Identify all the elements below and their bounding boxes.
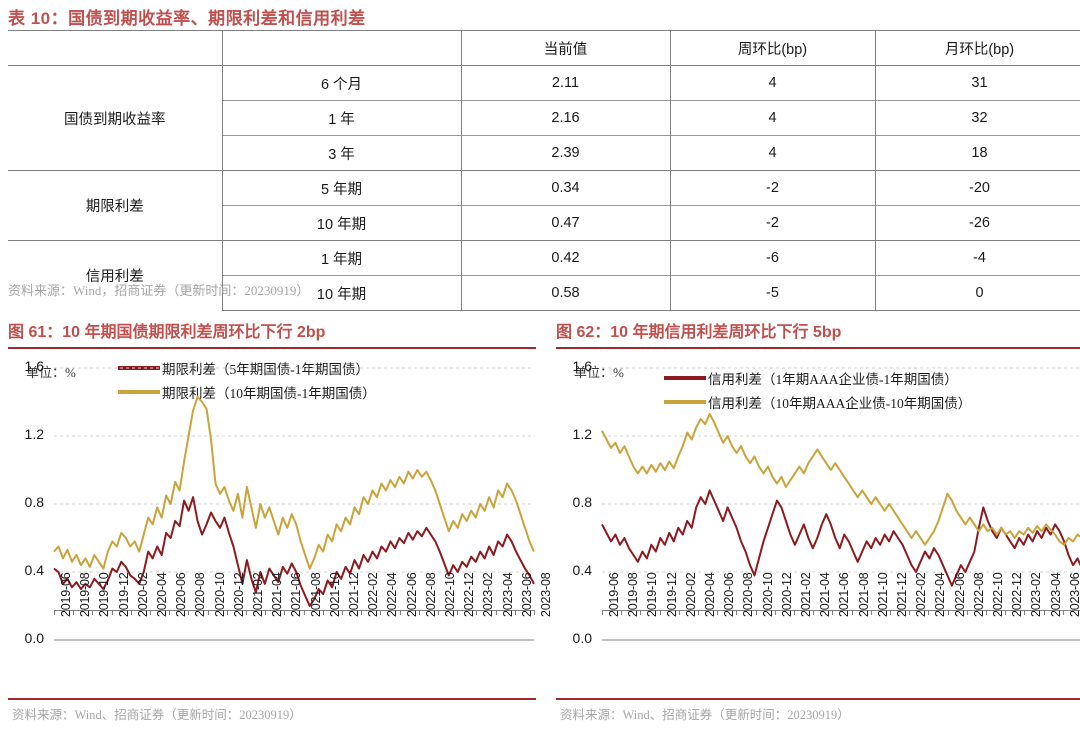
x-axis-tick [361, 610, 362, 615]
y-tick-label: 1.6 [558, 358, 592, 374]
x-tick-label: 2019-10 [645, 573, 659, 617]
x-tick-label: 2023-02 [1029, 573, 1043, 617]
x-axis-tick [1044, 610, 1045, 615]
y-tick-label: 0.4 [10, 562, 44, 578]
wow-change-cell: 4 [670, 66, 875, 101]
x-tick-label: 2019-06 [59, 573, 73, 617]
x-tick-label: 2019-12 [665, 573, 679, 617]
x-axis-tick [112, 610, 113, 615]
x-axis-tick [400, 610, 401, 615]
x-tick-label: 2019-06 [607, 573, 621, 617]
mom-change-cell: 31 [875, 66, 1080, 101]
x-tick-label: 2019-10 [97, 573, 111, 617]
wow-change-cell: -2 [670, 171, 875, 206]
table-container: 当前值周环比(bp)月环比(bp)国债到期收益率6 个月2.114311 年2.… [8, 30, 1080, 311]
x-axis-tick [832, 610, 833, 615]
x-axis-tick [948, 610, 949, 615]
x-tick-label: 2021-10 [328, 573, 342, 617]
rates-table: 当前值周环比(bp)月环比(bp)国债到期收益率6 个月2.114311 年2.… [8, 30, 1080, 311]
group-label: 信用利差 [8, 241, 222, 311]
x-tick-label: 2021-06 [837, 573, 851, 617]
x-axis-tick [756, 610, 757, 615]
x-axis-tick [890, 610, 891, 615]
x-tick-label: 2022-12 [1010, 573, 1024, 617]
x-axis-tick [813, 610, 814, 615]
x-axis-tick [871, 610, 872, 615]
current-value-cell: 0.34 [461, 171, 670, 206]
x-axis-tick [775, 610, 776, 615]
table-row: 信用利差1 年期0.42-6-4 [8, 241, 1080, 276]
x-tick-label: 2022-12 [462, 573, 476, 617]
x-tick-label: 2023-04 [1049, 573, 1063, 617]
x-tick-label: 2022-02 [366, 573, 380, 617]
x-axis-tick [1024, 610, 1025, 615]
current-value-cell: 2.11 [461, 66, 670, 101]
term-cell: 1 年期 [222, 241, 461, 276]
y-tick-label: 0.8 [558, 494, 592, 510]
current-value-cell: 0.58 [461, 276, 670, 311]
figure-62-panel: 图 62：10 年期信用利差周环比下行 5bp 单位：% 信用利差（1年期AAA… [556, 322, 1080, 726]
x-tick-label: 2023-06 [520, 573, 534, 617]
x-axis-tick [660, 610, 661, 615]
x-axis-tick [515, 610, 516, 615]
term-cell: 5 年期 [222, 171, 461, 206]
figure-61-title: 图 61：10 年期国债期限利差周环比下行 2bp [8, 322, 536, 344]
mom-change-cell: 32 [875, 101, 1080, 136]
y-tick-label: 1.2 [10, 426, 44, 442]
x-axis-tick [1005, 610, 1006, 615]
x-tick-label: 2023-02 [481, 573, 495, 617]
x-tick-label: 2022-06 [953, 573, 967, 617]
wow-change-cell: -2 [670, 206, 875, 241]
figure-61-bottom-rule [8, 698, 536, 700]
x-tick-label: 2022-10 [991, 573, 1005, 617]
x-axis-tick [679, 610, 680, 615]
x-axis-tick [717, 610, 718, 615]
x-tick-label: 2022-10 [443, 573, 457, 617]
x-tick-label: 2021-04 [818, 573, 832, 617]
x-axis-tick [476, 610, 477, 615]
x-tick-label: 2020-02 [684, 573, 698, 617]
term-cell: 10 年期 [222, 206, 461, 241]
x-axis-tick [602, 610, 603, 615]
x-tick-label: 2019-12 [117, 573, 131, 617]
figure-62-title: 图 62：10 年期信用利差周环比下行 5bp [556, 322, 1080, 344]
table-row: 国债到期收益率6 个月2.11431 [8, 66, 1080, 101]
x-axis-tick [621, 610, 622, 615]
column-header: 周环比(bp) [670, 31, 875, 66]
wow-change-cell: 4 [670, 101, 875, 136]
figure-61-source: 资料来源：Wind、招商证券（更新时间：20230919） [12, 704, 302, 723]
x-tick-label: 2020-06 [174, 573, 188, 617]
x-tick-label: 2021-08 [857, 573, 871, 617]
current-value-cell: 0.47 [461, 206, 670, 241]
x-tick-label: 2019-08 [78, 573, 92, 617]
column-header [8, 31, 222, 66]
x-axis-tick [304, 610, 305, 615]
x-axis-tick [438, 610, 439, 615]
x-tick-label: 2023-04 [501, 573, 515, 617]
term-cell: 3 年 [222, 136, 461, 171]
figure-61-title-rule [8, 347, 536, 349]
x-tick-label: 2021-02 [251, 573, 265, 617]
x-axis-tick [986, 610, 987, 615]
x-axis-tick [227, 610, 228, 615]
x-axis-tick [380, 610, 381, 615]
x-tick-label: 2022-04 [933, 573, 947, 617]
x-axis-tick [534, 610, 535, 615]
y-tick-label: 0.8 [10, 494, 44, 510]
x-axis-tick [208, 610, 209, 615]
mom-change-cell: -20 [875, 171, 1080, 206]
x-axis-tick [188, 610, 189, 615]
x-tick-label: 2022-06 [405, 573, 419, 617]
x-axis-tick [323, 610, 324, 615]
x-axis-tick [457, 610, 458, 615]
wow-change-cell: -5 [670, 276, 875, 311]
series-line-2 [602, 414, 1080, 545]
x-axis-tick [246, 610, 247, 615]
y-tick-label: 1.2 [558, 426, 592, 442]
x-tick-label: 2021-12 [895, 573, 909, 617]
series-line-2 [54, 397, 534, 569]
figure-62-title-rule [556, 347, 1080, 349]
series-line-1 [602, 490, 1080, 585]
x-tick-label: 2020-08 [193, 573, 207, 617]
x-axis-tick [150, 610, 151, 615]
x-axis-tick [1063, 610, 1064, 615]
report-page: 表 10：国债到期收益率、期限利差和信用利差 当前值周环比(bp)月环比(bp)… [0, 0, 1080, 730]
x-axis-tick [342, 610, 343, 615]
x-axis-tick [92, 610, 93, 615]
column-header [222, 31, 461, 66]
x-axis-tick [698, 610, 699, 615]
mom-change-cell: 18 [875, 136, 1080, 171]
x-axis-tick [131, 610, 132, 615]
x-axis-tick [419, 610, 420, 615]
x-axis-tick [54, 610, 55, 615]
x-axis-tick [265, 610, 266, 615]
term-cell: 1 年 [222, 101, 461, 136]
x-tick-label: 2020-12 [780, 573, 794, 617]
mom-change-cell: -4 [875, 241, 1080, 276]
table-title: 表 10：国债到期收益率、期限利差和信用利差 [8, 4, 366, 29]
x-tick-label: 2021-04 [270, 573, 284, 617]
wow-change-cell: 4 [670, 136, 875, 171]
table-header-row: 当前值周环比(bp)月环比(bp) [8, 31, 1080, 66]
table-row: 期限利差5 年期0.34-2-20 [8, 171, 1080, 206]
x-tick-label: 2021-12 [347, 573, 361, 617]
x-tick-label: 2019-08 [626, 573, 640, 617]
table-source: 资料来源：Wind，招商证券（更新时间：20230919） [8, 280, 309, 299]
x-axis-tick [284, 610, 285, 615]
x-tick-label: 2022-02 [914, 573, 928, 617]
x-tick-label: 2023-08 [539, 573, 553, 617]
x-tick-label: 2020-04 [703, 573, 717, 617]
x-tick-label: 2020-06 [722, 573, 736, 617]
x-tick-label: 2021-10 [876, 573, 890, 617]
x-tick-label: 2020-10 [761, 573, 775, 617]
x-axis-tick [967, 610, 968, 615]
x-axis-tick [73, 610, 74, 615]
mom-change-cell: -26 [875, 206, 1080, 241]
y-tick-label: 0.4 [558, 562, 592, 578]
current-value-cell: 0.42 [461, 241, 670, 276]
column-header: 月环比(bp) [875, 31, 1080, 66]
x-tick-label: 2020-10 [213, 573, 227, 617]
column-header: 当前值 [461, 31, 670, 66]
wow-change-cell: -6 [670, 241, 875, 276]
x-tick-label: 2021-08 [309, 573, 323, 617]
x-axis-tick [640, 610, 641, 615]
x-axis-tick [852, 610, 853, 615]
x-axis-tick [736, 610, 737, 615]
x-axis-tick [909, 610, 910, 615]
current-value-cell: 2.16 [461, 101, 670, 136]
current-value-cell: 2.39 [461, 136, 670, 171]
figure-62-source: 资料来源：Wind、招商证券（更新时间：20230919） [560, 704, 850, 723]
x-tick-label: 2020-02 [136, 573, 150, 617]
x-tick-label: 2020-08 [741, 573, 755, 617]
x-tick-label: 2021-06 [289, 573, 303, 617]
x-tick-label: 2023-06 [1068, 573, 1080, 617]
x-tick-label: 2022-08 [424, 573, 438, 617]
figure-62-bottom-rule [556, 698, 1080, 700]
y-tick-label: 1.6 [10, 358, 44, 374]
x-tick-label: 2021-02 [799, 573, 813, 617]
mom-change-cell: 0 [875, 276, 1080, 311]
x-tick-label: 2020-12 [232, 573, 246, 617]
x-axis-tick [928, 610, 929, 615]
x-tick-label: 2022-04 [385, 573, 399, 617]
figure-61-panel: 图 61：10 年期国债期限利差周环比下行 2bp 单位：% 期限利差（5年期国… [8, 322, 536, 726]
x-axis-tick [169, 610, 170, 615]
x-axis-tick [794, 610, 795, 615]
term-cell: 6 个月 [222, 66, 461, 101]
x-axis-tick [496, 610, 497, 615]
group-label: 国债到期收益率 [8, 66, 222, 171]
x-tick-label: 2020-04 [155, 573, 169, 617]
x-tick-label: 2022-08 [972, 573, 986, 617]
group-label: 期限利差 [8, 171, 222, 241]
